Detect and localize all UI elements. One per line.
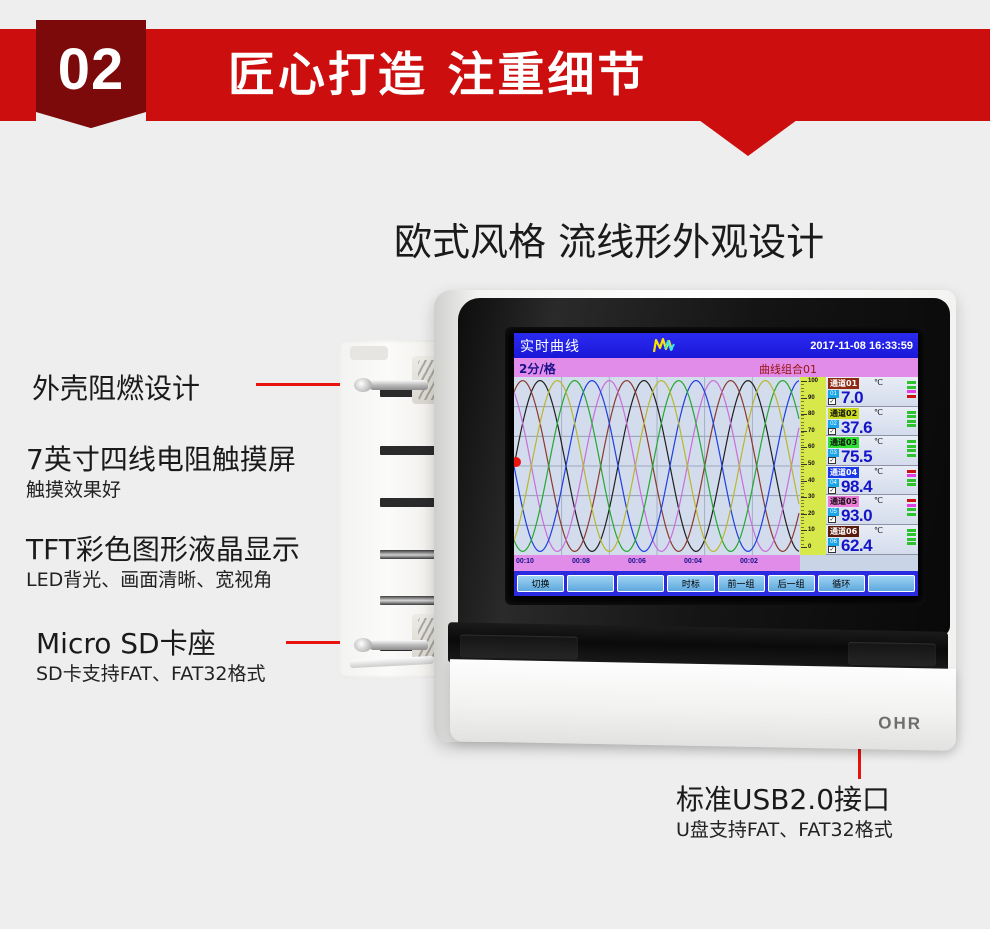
axis-tick-label: 0: [808, 544, 811, 550]
axis-minor-tick: [801, 398, 804, 399]
lcd-button-4[interactable]: 前一组: [718, 575, 765, 592]
device-paperless-recorder: 实时曲线 2017-11-08 16:33:59 2分/格 曲线组合01 100…: [340, 282, 960, 762]
channel-value: 62.4: [841, 536, 872, 556]
channel-row[interactable]: 通道04℃04✓98.4: [826, 466, 918, 496]
axis-minor-tick: [801, 513, 804, 514]
channel-enable-checkbox[interactable]: ✓: [828, 546, 836, 553]
axis-minor-tick: [801, 466, 804, 467]
channel-row[interactable]: 通道03℃03✓75.5: [826, 436, 918, 466]
axis-minor-tick: [801, 459, 804, 460]
channel-index-badge: 02: [828, 420, 839, 428]
channel-status-bars: [907, 499, 916, 517]
axis-minor-tick: [801, 381, 804, 382]
axis-minor-tick: [801, 422, 804, 423]
lcd-channel-panel[interactable]: 通道01℃01✓7.0通道02℃02✓37.6通道03℃03✓75.5通道04℃…: [826, 377, 918, 555]
axis-minor-tick: [801, 415, 804, 416]
axis-minor-tick: [801, 517, 804, 518]
mounting-screw: [370, 380, 428, 390]
callout-title: 7英寸四线电阻触摸屏: [26, 443, 296, 477]
axis-minor-tick: [801, 503, 804, 504]
callout-tft-display: TFT彩色图形液晶显示 LED背光、画面清晰、宽视角: [26, 533, 300, 593]
callout-title: TFT彩色图形液晶显示: [26, 533, 300, 567]
axis-minor-tick: [801, 544, 804, 545]
lcd-button-empty-2[interactable]: [617, 575, 664, 592]
vent-slot: [380, 498, 442, 507]
axis-minor-tick: [801, 547, 804, 548]
lcd-button-0[interactable]: 切换: [517, 575, 564, 592]
axis-minor-tick: [801, 496, 804, 497]
lcd-button-empty-1[interactable]: [567, 575, 614, 592]
axis-minor-tick: [801, 527, 804, 528]
axis-minor-tick: [801, 445, 804, 446]
banner-notch: [0, 121, 990, 157]
axis-tick-label: 90: [808, 395, 815, 401]
channel-enable-checkbox[interactable]: ✓: [828, 516, 836, 523]
lcd-button-empty-7[interactable]: [868, 575, 915, 592]
axis-minor-tick: [801, 456, 804, 457]
time-axis-label: 00:06: [628, 558, 646, 565]
axis-minor-tick: [801, 405, 804, 406]
lcd-subheader-bar: 2分/格 曲线组合01: [514, 358, 918, 377]
callout-title: Micro SD卡座: [36, 627, 266, 661]
axis-minor-tick: [801, 506, 804, 507]
page-root: 02 匠心打造 注重细节 欧式风格 流线形外观设计 外壳阻燃设计 7英寸四线电阻…: [0, 0, 990, 929]
axis-minor-tick: [801, 391, 804, 392]
axis-minor-tick: [801, 530, 804, 531]
lcd-button-5[interactable]: 后一组: [768, 575, 815, 592]
brand-logo: OHR: [878, 713, 922, 734]
axis-tick: [801, 497, 807, 498]
callout-subtitle: SD卡支持FAT、FAT32格式: [36, 661, 266, 687]
lcd-button-bar[interactable]: 切换时标前一组后一组循环: [514, 571, 918, 596]
axis-tick-label: 10: [808, 527, 815, 533]
channel-value: 7.0: [841, 388, 863, 408]
channel-unit: ℃: [874, 526, 883, 535]
channel-index-badge: 04: [828, 479, 839, 487]
vent-slot: [380, 596, 442, 605]
callout-title: 外壳阻燃设计: [32, 372, 200, 406]
axis-tick: [801, 481, 807, 482]
channel-index-badge: 06: [828, 538, 839, 546]
axis-minor-tick: [801, 472, 804, 473]
axis-minor-tick: [801, 395, 804, 396]
axis-minor-tick: [801, 401, 804, 402]
axis-minor-tick: [801, 479, 804, 480]
time-axis-label: 00:10: [516, 558, 534, 565]
lcd-screen[interactable]: 实时曲线 2017-11-08 16:33:59 2分/格 曲线组合01 100…: [514, 333, 918, 596]
channel-row[interactable]: 通道06℃06✓62.4: [826, 525, 918, 555]
axis-minor-tick: [801, 476, 804, 477]
channel-unit: ℃: [874, 467, 883, 476]
axis-tick-label: 50: [808, 461, 815, 467]
axis-minor-tick: [801, 493, 804, 494]
channel-status-bars: [907, 470, 916, 488]
axis-minor-tick: [801, 411, 804, 412]
axis-tick-label: 40: [808, 478, 815, 484]
channel-unit: ℃: [874, 378, 883, 387]
axis-minor-tick: [801, 533, 804, 534]
mounting-screw: [370, 640, 428, 650]
channel-index-badge: 05: [828, 508, 839, 516]
section-number: 02: [36, 36, 146, 103]
callout-flame-retardant: 外壳阻燃设计: [32, 372, 200, 406]
lcd-time-axis: 00:1000:0800:0600:0400:02: [514, 555, 800, 571]
channel-unit: ℃: [874, 496, 883, 505]
axis-minor-tick: [801, 510, 804, 511]
axis-minor-tick: [801, 432, 804, 433]
axis-tick-label: 30: [808, 494, 815, 500]
time-axis-label: 00:04: [684, 558, 702, 565]
callout-subtitle: 触摸效果好: [26, 477, 296, 503]
lcd-plot-area[interactable]: [514, 377, 800, 555]
channel-status-bars: [907, 440, 916, 458]
callout-title: 标准USB2.0接口: [676, 783, 893, 817]
channel-value: 98.4: [841, 477, 872, 497]
channel-enable-checkbox[interactable]: ✓: [828, 428, 836, 435]
channel-unit: ℃: [874, 437, 883, 446]
channel-value: 37.6: [841, 418, 872, 438]
lcd-header-bar: 实时曲线 2017-11-08 16:33:59: [514, 333, 918, 358]
axis-minor-tick: [801, 449, 804, 450]
axis-minor-tick: [801, 469, 804, 470]
axis-minor-tick: [801, 489, 804, 490]
axis-minor-tick: [801, 500, 804, 501]
axis-minor-tick: [801, 483, 804, 484]
axis-minor-tick: [801, 418, 804, 419]
channel-value: 93.0: [841, 506, 872, 526]
axis-minor-tick: [801, 384, 804, 385]
callout-micro-sd: Micro SD卡座 SD卡支持FAT、FAT32格式: [36, 627, 266, 687]
device-bottom-panel: OHR: [450, 659, 956, 751]
axis-minor-tick: [801, 523, 804, 524]
callout-subtitle: LED背光、画面清晰、宽视角: [26, 567, 300, 593]
channel-value: 75.5: [841, 447, 872, 467]
section-heading: 欧式风格 流线形外观设计: [394, 211, 824, 266]
callout-touchscreen: 7英寸四线电阻触摸屏 触摸效果好: [26, 443, 296, 503]
channel-status-bars: [907, 381, 916, 399]
axis-tick-label: 70: [808, 428, 815, 434]
lcd-scale-label: 2分/格: [519, 360, 556, 377]
channel-status-bars: [907, 411, 916, 429]
channel-row[interactable]: 通道05℃05✓93.0: [826, 495, 918, 525]
channel-row[interactable]: 通道02℃02✓37.6: [826, 407, 918, 437]
axis-minor-tick: [801, 520, 804, 521]
channel-enable-checkbox[interactable]: ✓: [828, 457, 836, 464]
axis-tick-label: 80: [808, 411, 815, 417]
lcd-button-6[interactable]: 循环: [818, 575, 865, 592]
channel-index-badge: 01: [828, 390, 839, 398]
axis-minor-tick: [801, 428, 804, 429]
channel-index-badge: 03: [828, 449, 839, 457]
axis-minor-tick: [801, 425, 804, 426]
axis-minor-tick: [801, 462, 804, 463]
lcd-datetime: 2017-11-08 16:33:59: [810, 340, 918, 352]
section-number-ribbon: 02: [36, 20, 146, 138]
channel-enable-checkbox[interactable]: ✓: [828, 487, 836, 494]
axis-minor-tick: [801, 442, 804, 443]
usb-port-door[interactable]: [848, 642, 936, 667]
callout-subtitle: U盘支持FAT、FAT32格式: [676, 817, 893, 843]
axis-minor-tick: [801, 408, 804, 409]
axis-minor-tick: [801, 540, 804, 541]
axis-minor-tick: [801, 439, 804, 440]
axis-tick-label: 100: [808, 378, 818, 384]
axis-minor-tick: [801, 435, 804, 436]
lcd-y-axis-strip: 1009080706050403020100: [800, 377, 826, 555]
axis-minor-tick: [801, 388, 804, 389]
channel-row[interactable]: 通道01℃01✓7.0: [826, 377, 918, 407]
axis-tick-label: 60: [808, 444, 815, 450]
channel-enable-checkbox[interactable]: ✓: [828, 398, 836, 405]
lcd-title: 实时曲线: [514, 336, 580, 356]
sd-card-door[interactable]: [460, 634, 578, 659]
axis-minor-tick: [801, 486, 804, 487]
axis-minor-tick: [801, 452, 804, 453]
vent-slot: [380, 550, 442, 559]
lcd-button-3[interactable]: 时标: [667, 575, 714, 592]
callout-usb-port: 标准USB2.0接口 U盘支持FAT、FAT32格式: [676, 783, 893, 843]
trend-curves: [514, 377, 800, 555]
waveform-logo-icon: [652, 336, 678, 354]
time-axis-label: 00:08: [572, 558, 590, 565]
channel-status-bars: [907, 529, 916, 547]
channel-unit: ℃: [874, 408, 883, 417]
axis-tick-label: 20: [808, 511, 815, 517]
banner-title: 匠心打造 注重细节: [228, 36, 647, 105]
axis-minor-tick: [801, 537, 804, 538]
lcd-group-label: 曲线组合01: [759, 361, 817, 377]
vent-slot: [380, 446, 442, 455]
chassis-rail: [350, 656, 434, 668]
time-axis-label: 00:02: [740, 558, 758, 565]
